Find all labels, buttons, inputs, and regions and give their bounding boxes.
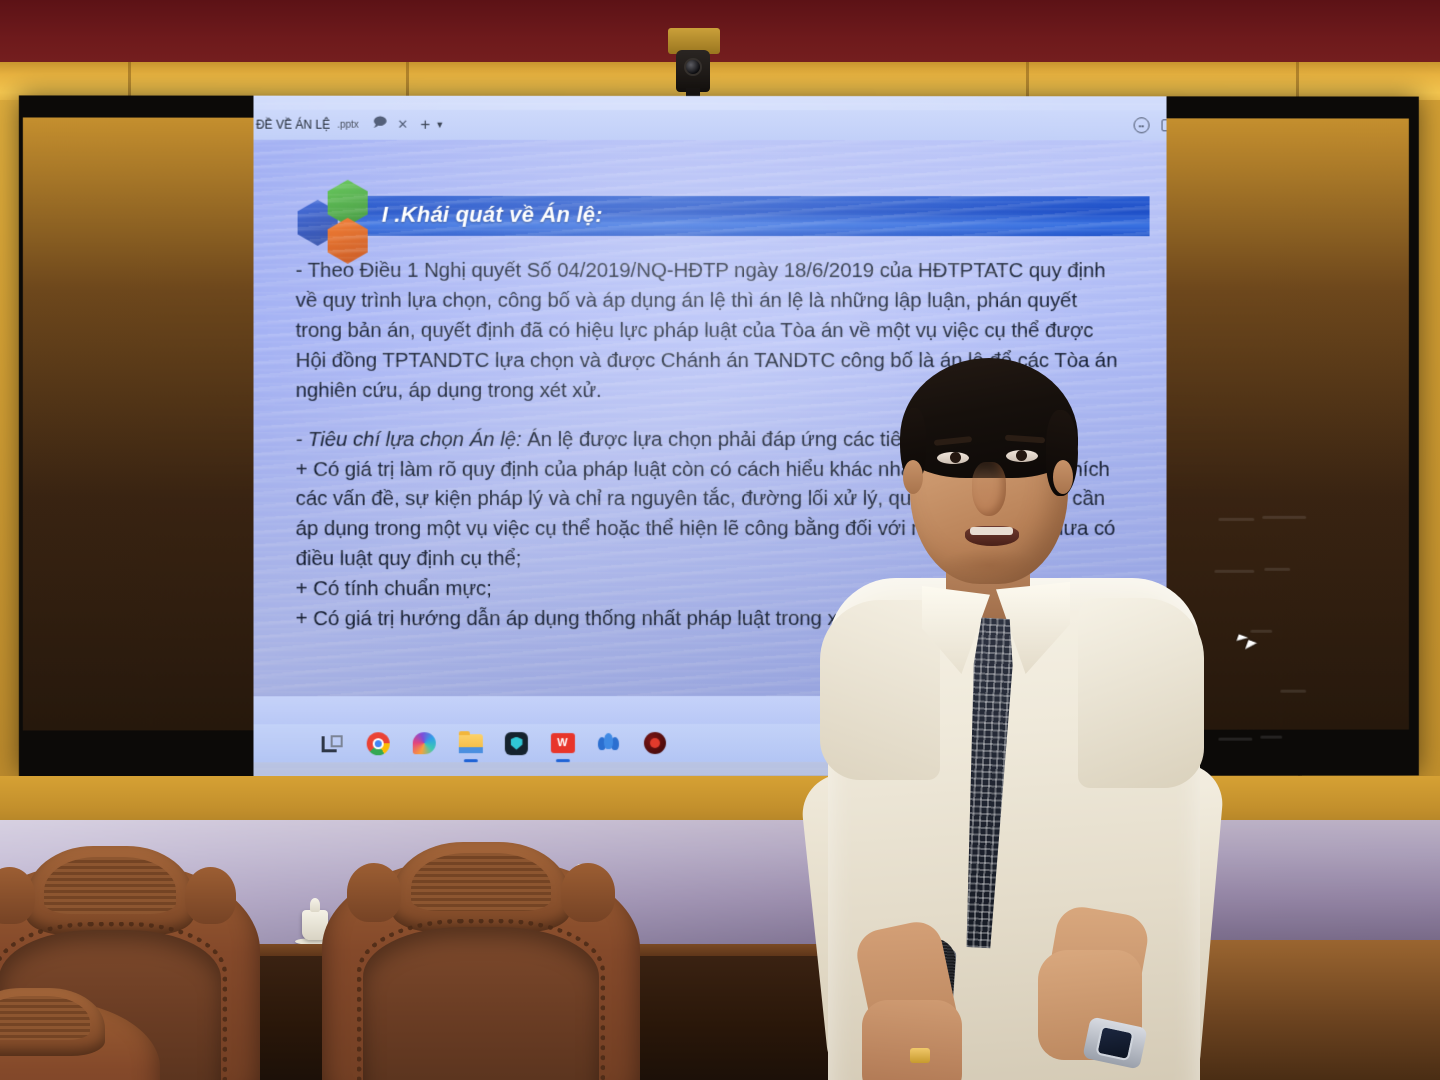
chrome-icon[interactable] [366,731,391,756]
conference-room-scene: W WPS Office P CHUYÊN ĐỀ VỀ ÁN LỆ .pptx … [0,0,1440,1080]
copilot-icon[interactable] [412,731,437,756]
window-restore-icon[interactable] [1161,119,1166,131]
security-shield-icon[interactable] [504,731,529,756]
teams-people-icon[interactable] [596,731,621,756]
screen-dark-panel-left [23,117,254,730]
pupil-left [950,452,961,463]
task-view-icon[interactable] [320,731,345,756]
red-app-icon[interactable] [642,731,667,756]
teeth [970,527,1013,535]
nose [972,462,1006,516]
new-tab-icon[interactable]: + [420,115,430,135]
file-explorer-icon[interactable] [458,731,483,756]
close-tab-icon[interactable]: ✕ [397,117,408,133]
document-tab-title: CHUYÊN ĐỀ VỀ ÁN LỆ [253,118,330,132]
document-tab-extension: .pptx [337,119,359,130]
chair [0,1000,160,1080]
help-circle-icon[interactable]: •• [1133,117,1149,133]
shoulder-right [1078,598,1204,788]
ear-left [903,460,923,494]
tab-list-chevron-down-icon[interactable]: ▼ [435,120,444,130]
presenter-person [800,350,1220,1080]
slide-title: I .Khái quát về Án lệ: [382,202,1122,228]
criteria-intro-italic: - Tiêu chí lựa chọn Án lệ: [296,428,522,451]
gold-ring [910,1048,930,1063]
ear-right [1053,460,1073,494]
camera-lens-icon [684,58,702,76]
pupil-right [1016,450,1027,461]
hand-left [862,1000,962,1080]
wps-office-icon[interactable]: W [550,731,575,756]
hexagon-decoration [298,180,394,258]
comment-icon[interactable]: 🗩 [373,114,387,136]
chair [322,858,640,1080]
chin-shadow [940,548,1038,582]
taskbar-app-icons: W [320,731,667,756]
wps-title-bar: W WPS Office P CHUYÊN ĐỀ VỀ ÁN LỆ .pptx … [253,109,1166,140]
document-tab[interactable]: P CHUYÊN ĐỀ VỀ ÁN LỆ .pptx [253,114,362,136]
